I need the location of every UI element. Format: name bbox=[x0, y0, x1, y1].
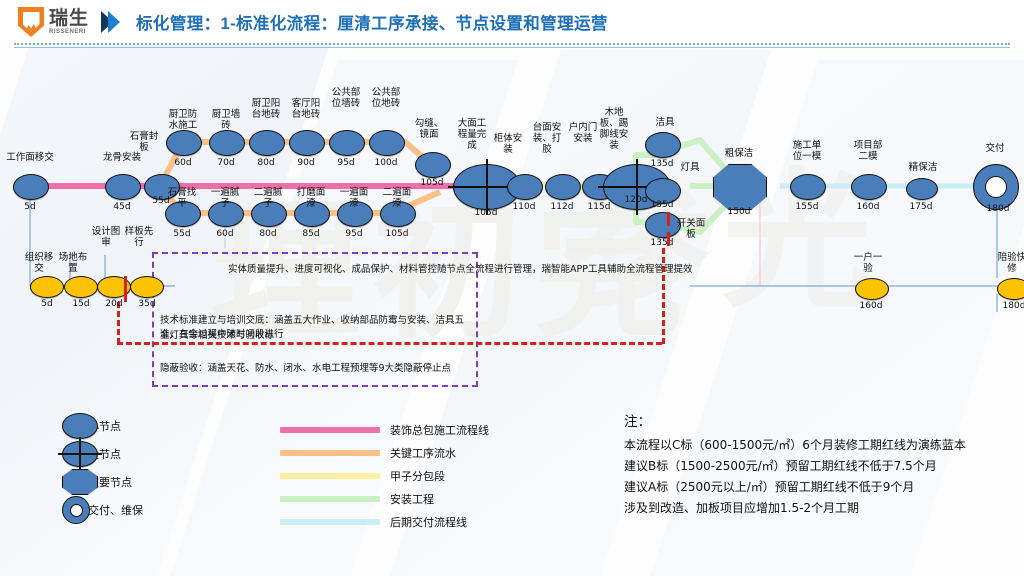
node-duration-main-0: 5d bbox=[10, 202, 50, 212]
legend-row-important-node: 重要节点 bbox=[62, 468, 143, 496]
node-main-11[interactable] bbox=[906, 178, 938, 200]
node-label-main-0: 工作面移交 bbox=[0, 152, 60, 163]
node-duration-main-5: 112d bbox=[542, 202, 582, 212]
node-install-0[interactable] bbox=[645, 132, 681, 158]
node-duration-main-6: 115d bbox=[579, 202, 619, 212]
node-duration-prep-3: 35d bbox=[127, 299, 167, 309]
callout-text-1: 实体质量提升、进度可视化、成品保护、材料管控随节点全流程进行管理，瑞智能APP工… bbox=[228, 262, 728, 277]
notes-line-3: 涉及到改造、加板项目应增加1.5-2个月工期 bbox=[624, 498, 966, 519]
legend-icon-donut-node bbox=[62, 496, 90, 524]
legend-node-shapes: 小节点 大节点 重要节点 交付、维保 bbox=[62, 412, 143, 524]
legend-line-row-2: 甲子分包段 bbox=[280, 464, 489, 487]
node-duration-main-12: 180d bbox=[978, 204, 1018, 214]
legend-line-label-1: 关键工序流水 bbox=[390, 445, 456, 461]
node-duration-upper-5: 100d bbox=[366, 158, 406, 168]
node-label-prep-3: 样板先行 bbox=[122, 226, 156, 248]
prep-red-tick bbox=[124, 276, 127, 302]
legend-line-label-4: 后期交付流程线 bbox=[390, 514, 467, 530]
node-label-upper-4: 公共部位墙砖 bbox=[329, 87, 363, 109]
node-label-main-8: 粗保洁 bbox=[709, 148, 769, 159]
legend-line-swatch-3 bbox=[280, 496, 380, 502]
node-upper-6[interactable] bbox=[415, 152, 451, 178]
legend-icon-small-node bbox=[62, 413, 98, 439]
node-upper-2[interactable] bbox=[249, 130, 285, 156]
node-main-8[interactable] bbox=[713, 164, 767, 210]
legend-line-row-4: 后期交付流程线 bbox=[280, 510, 489, 533]
node-label-main-5: 台面安装、打胶 bbox=[530, 122, 564, 155]
logo-chinese-name: 瑞生 bbox=[49, 9, 89, 28]
legend-line-swatch-0 bbox=[280, 427, 380, 433]
legend-line-label-3: 安装工程 bbox=[390, 491, 434, 507]
legend-row-small-node: 小节点 bbox=[62, 412, 143, 440]
node-label-upper-2: 厨卫阳台地砖 bbox=[249, 98, 283, 120]
node-label-prep-0: 组织移交 bbox=[22, 252, 56, 274]
node-label-main-2: 石膏封板 bbox=[127, 131, 161, 153]
legend-line-label-2: 甲子分包段 bbox=[390, 468, 445, 484]
node-duration-tail-1: 180d bbox=[994, 301, 1024, 311]
legend-icon-big-node bbox=[62, 441, 98, 467]
node-duration-main-3: 105d bbox=[466, 208, 506, 218]
node-duration-lower-5: 105d bbox=[377, 229, 417, 239]
logo-english-name: RISSENERI bbox=[49, 28, 89, 36]
legend-row-delivery-node: 交付、维保 bbox=[62, 496, 143, 524]
node-duration-lower-2: 80d bbox=[248, 229, 288, 239]
company-logo-icon bbox=[18, 7, 44, 37]
node-label-main-11: 精保洁 bbox=[893, 162, 953, 173]
node-label-lower-5: 二遍面漆 bbox=[380, 187, 414, 209]
node-label-main-3: 大面工程量完成 bbox=[455, 118, 489, 151]
switch-panel-red-tick-bottom bbox=[667, 232, 670, 246]
node-main-10[interactable] bbox=[851, 174, 887, 200]
node-label-install-1: 灯具 bbox=[673, 162, 707, 173]
node-label-lower-3: 打磨面漆 bbox=[294, 187, 328, 209]
node-upper-1[interactable] bbox=[209, 130, 245, 156]
double-chevron-icon bbox=[101, 11, 120, 33]
node-duration-install-1: 135d bbox=[642, 200, 682, 210]
node-label-main-6: 户内门安装 bbox=[566, 122, 600, 144]
node-tail-1[interactable] bbox=[997, 278, 1024, 300]
node-duration-lower-1: 60d bbox=[205, 229, 245, 239]
legend-icon-octagon-node bbox=[62, 469, 98, 495]
node-label-install-0: 洁具 bbox=[648, 117, 682, 128]
header-divider-solid bbox=[14, 47, 1010, 48]
node-label-install-2: 开关面板 bbox=[674, 218, 708, 240]
node-upper-0[interactable] bbox=[166, 130, 202, 156]
node-label-upper-6: 勾缝、镜面 bbox=[412, 118, 446, 140]
notes-title: 注： bbox=[624, 410, 966, 430]
notes-line-2: 建议A标（2500元以上/㎡）预留工期红线不低于9个月 bbox=[624, 477, 966, 498]
page-header: 瑞生 RISSENERI 标化管理：1-标准化流程：厘清工序承接、节点设置和管理… bbox=[0, 0, 1024, 44]
node-duration-tail-0: 160d bbox=[851, 301, 891, 311]
node-label-main-9: 施工单位一模 bbox=[790, 140, 824, 162]
node-duration-lower-3: 85d bbox=[291, 229, 331, 239]
legend-line-row-1: 关键工序流水 bbox=[280, 441, 489, 464]
legend-line-label-0: 装饰总包施工流程线 bbox=[390, 422, 489, 438]
node-tail-0[interactable] bbox=[855, 278, 889, 300]
node-label-upper-1: 厨卫墙砖 bbox=[209, 109, 243, 131]
node-main-5[interactable] bbox=[545, 174, 581, 200]
node-label-main-10: 项目部二模 bbox=[851, 140, 885, 162]
notes-line-0: 本流程以C标（600-1500元/㎡）6个月装修工期红线为演练蓝本 bbox=[624, 435, 966, 456]
notes-line-1: 建议B标（1500-2500元/㎡）预留工期红线不低于7.5个月 bbox=[624, 456, 966, 477]
node-label-main-7: 木地板、踢脚线安装 bbox=[597, 107, 631, 151]
node-main-9[interactable] bbox=[790, 174, 826, 200]
node-label-lower-0: 石膏找平 bbox=[165, 187, 199, 209]
node-duration-upper-4: 95d bbox=[326, 158, 366, 168]
node-prep-3[interactable] bbox=[130, 276, 164, 298]
node-prep-1[interactable] bbox=[64, 276, 98, 298]
node-main-4[interactable] bbox=[507, 174, 543, 200]
node-label-main-1: 龙骨安装 bbox=[92, 152, 152, 163]
node-duration-main-11: 175d bbox=[901, 202, 941, 212]
node-upper-5[interactable] bbox=[369, 130, 405, 156]
node-label-lower-1: 一遍腻子 bbox=[208, 187, 242, 209]
node-label-upper-3: 客厅阳台地砖 bbox=[289, 98, 323, 120]
node-duration-main-9: 155d bbox=[787, 202, 827, 212]
page-title: 标化管理：1-标准化流程：厘清工序承接、节点设置和管理运营 bbox=[136, 10, 608, 34]
callout-text-2b: 准，在全过程中随时间段进行 bbox=[160, 327, 465, 342]
node-duration-upper-2: 80d bbox=[246, 158, 286, 168]
legend-line-swatch-1 bbox=[280, 450, 380, 456]
legend-line-swatch-4 bbox=[280, 519, 380, 525]
node-duration-main-4: 110d bbox=[504, 202, 544, 212]
node-label-upper-5: 公共部位地砖 bbox=[369, 87, 403, 109]
node-duration-lower-0: 55d bbox=[162, 229, 202, 239]
node-duration-upper-3: 90d bbox=[286, 158, 326, 168]
node-main-1[interactable] bbox=[105, 174, 141, 200]
node-duration-main-1: 45d bbox=[102, 202, 142, 212]
header-divider-dotted bbox=[14, 43, 1010, 45]
legend-line-row-0: 装饰总包施工流程线 bbox=[280, 418, 489, 441]
legend-line-swatch-2 bbox=[280, 473, 380, 479]
legend-row-big-node: 大节点 bbox=[62, 440, 143, 468]
node-duration-upper-6: 105d bbox=[412, 178, 452, 188]
node-label-main-12: 交付 bbox=[965, 143, 1024, 154]
node-upper-3[interactable] bbox=[289, 130, 325, 156]
node-duration-upper-1: 70d bbox=[206, 158, 246, 168]
callout-text-3: 隐蔽验收：涵盖天花、防水、闭水、水电工程预埋等9大类隐蔽停止点 bbox=[160, 361, 465, 376]
node-label-main-4: 柜体安装 bbox=[491, 133, 525, 155]
node-duration-main-8: 150d bbox=[719, 207, 759, 217]
legend-label-3: 交付、维保 bbox=[88, 502, 143, 518]
node-prep-0[interactable] bbox=[30, 276, 64, 298]
node-label-lower-4: 一遍面漆 bbox=[337, 187, 371, 209]
node-label-upper-0: 厨卫防水施工 bbox=[166, 109, 200, 131]
node-label-tail-1: 陪验快修 bbox=[995, 252, 1024, 274]
switch-panel-red-tick-top bbox=[667, 212, 670, 226]
legend-line-row-3: 安装工程 bbox=[280, 487, 489, 510]
node-duration-upper-0: 60d bbox=[163, 158, 203, 168]
legend-line-types: 装饰总包施工流程线 关键工序流水 甲子分包段 安装工程 后期交付流程线 bbox=[280, 418, 489, 533]
node-duration-main-10: 160d bbox=[848, 202, 888, 212]
node-label-prep-2: 设计图审 bbox=[89, 226, 123, 248]
node-label-prep-1: 场地布置 bbox=[56, 252, 90, 274]
node-upper-4[interactable] bbox=[329, 130, 365, 156]
node-duration-lower-4: 95d bbox=[334, 229, 374, 239]
node-main-0[interactable] bbox=[13, 174, 49, 200]
node-duration-install-2: 135d bbox=[642, 238, 682, 248]
notes-block: 注： 本流程以C标（600-1500元/㎡）6个月装修工期红线为演练蓝本 建议B… bbox=[624, 410, 966, 519]
node-label-tail-0: 一户一验 bbox=[851, 252, 885, 274]
node-label-lower-2: 二遍腻子 bbox=[251, 187, 285, 209]
